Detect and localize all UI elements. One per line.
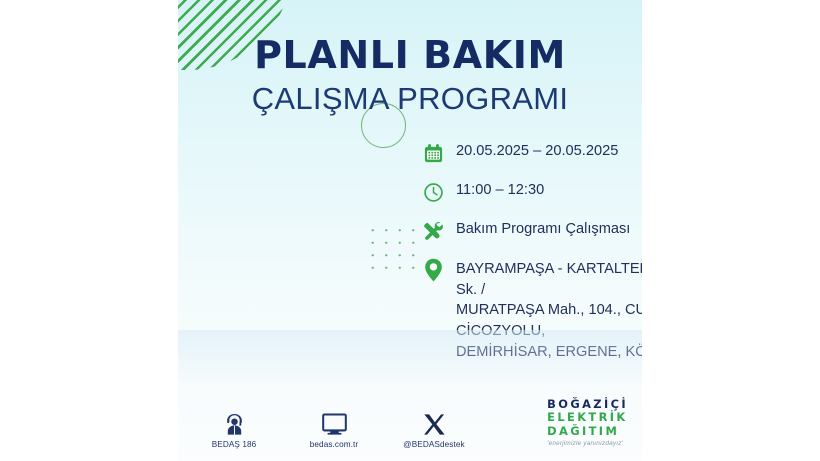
brand-line-2: ELEKTRİK	[547, 411, 628, 424]
contact-x[interactable]: @BEDASdestek	[396, 409, 472, 449]
bedas-logo: BOĞAZİÇİ ELEKTRİK DAĞITIM 'enerjimizle y…	[547, 398, 628, 447]
dot-grid-left-decoration	[364, 222, 418, 272]
brand-line-3: DAĞITIM	[547, 425, 628, 438]
planned-maintenance-poster: PLANLI BAKIM ÇALIŞMA PROGRAMI	[178, 0, 642, 461]
page-subtitle: ÇALIŞMA PROGRAMI	[178, 82, 642, 116]
address-line-3: DEMİRHİSAR, ERGENE, KÖPRÜLÜ Sk. ve civar…	[456, 344, 642, 360]
support-agent-icon	[196, 409, 272, 436]
tools-icon	[418, 218, 448, 244]
calendar-icon	[418, 140, 448, 166]
contact-website[interactable]: bedas.com.tr	[296, 409, 372, 449]
location-pin-icon	[418, 257, 448, 284]
poster-footer: BEDAŞ 186 bedas.com.tr	[178, 397, 642, 453]
contact-phone[interactable]: BEDAŞ 186	[196, 409, 272, 449]
clock-icon	[418, 179, 448, 205]
detail-row-worktype: Bakım Programı Çalışması	[418, 218, 642, 244]
work-type-text: Bakım Programı Çalışması	[456, 218, 630, 239]
x-logo-icon	[396, 409, 472, 436]
contact-x-label: @BEDASdestek	[396, 440, 472, 449]
date-range-text: 20.05.2025 – 20.05.2025	[456, 140, 618, 161]
brand-slogan: 'enerjimizle yanınızdayız'	[547, 440, 628, 447]
address-line-1: BAYRAMPAŞA - KARTALTEPE Mah., CİCOZ YOLU…	[456, 261, 642, 298]
address-line-2: MURATPAŞA Mah., 104., CUMHURİYET, CİCOZY…	[456, 302, 642, 339]
poster-title-block: PLANLI BAKIM ÇALIŞMA PROGRAMI	[178, 36, 642, 116]
detail-row-time: 11:00 – 12:30	[418, 179, 642, 205]
contact-phone-label: BEDAŞ 186	[196, 440, 272, 449]
time-range-text: 11:00 – 12:30	[456, 179, 544, 200]
maintenance-details: 20.05.2025 – 20.05.2025 11:00 – 12:30	[418, 140, 642, 376]
contact-channels: BEDAŞ 186 bedas.com.tr	[196, 409, 472, 449]
page-title: PLANLI BAKIM	[178, 36, 642, 76]
screenshot-canvas: PLANLI BAKIM ÇALIŞMA PROGRAMI	[0, 0, 820, 461]
contact-website-label: bedas.com.tr	[296, 440, 372, 449]
detail-row-address: BAYRAMPAŞA - KARTALTEPE Mah., CİCOZ YOLU…	[418, 257, 642, 363]
address-text: BAYRAMPAŞA - KARTALTEPE Mah., CİCOZ YOLU…	[456, 257, 642, 363]
detail-row-date: 20.05.2025 – 20.05.2025	[418, 140, 642, 166]
monitor-icon	[296, 409, 372, 436]
